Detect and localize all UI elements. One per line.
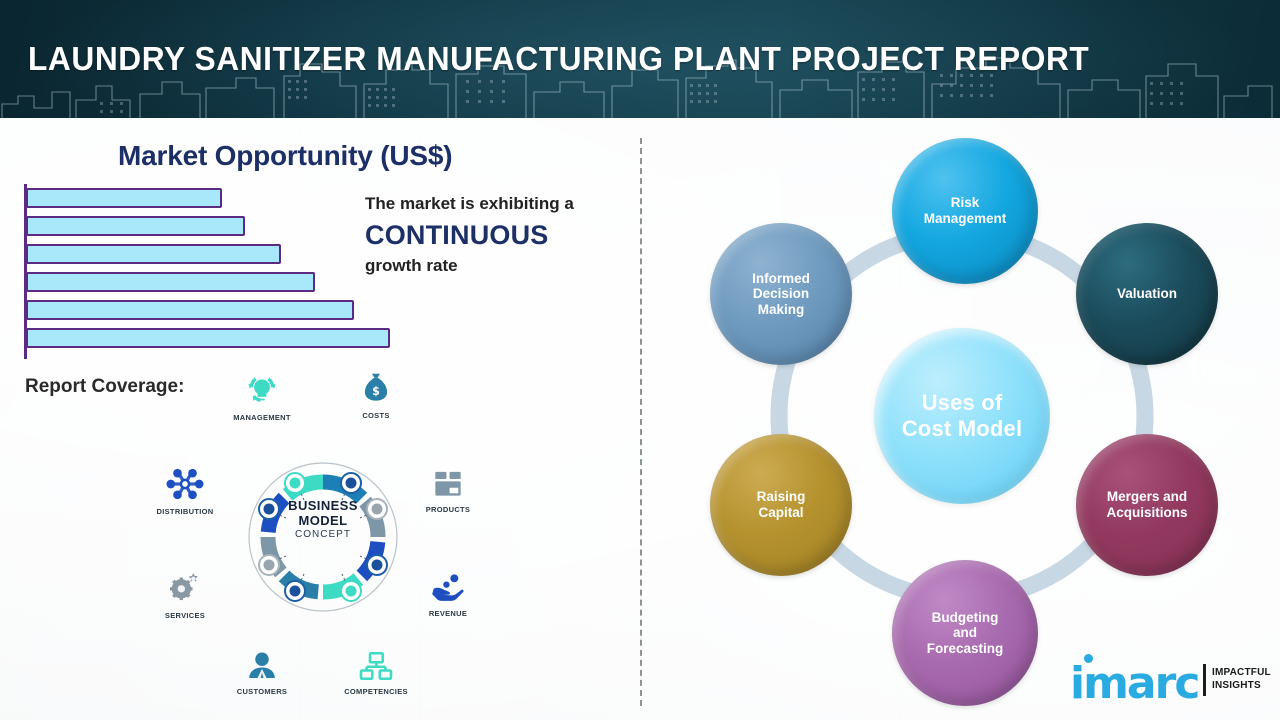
chart-bar-6 (26, 328, 390, 348)
node-budgeting-line1: Budgeting (921, 610, 1010, 626)
market-callout: The market is exhibiting a CONTINUOUS gr… (365, 194, 633, 276)
callout-highlight: CONTINUOUS (365, 214, 633, 256)
coverage-item-services: SERVICES (137, 568, 233, 620)
page-title: LAUNDRY SANITIZER MANUFACTURING PLANT PR… (28, 40, 1089, 78)
node-risk-line2: Management (918, 211, 1013, 227)
imarc-logo[interactable]: imarc IMPACTFUL INSIGHTS (1070, 646, 1270, 708)
logo-wordmark: imarc (1070, 658, 1198, 709)
coverage-item-label: DISTRIBUTION (137, 507, 233, 516)
coverage-item-costs: $ COSTS (328, 368, 424, 420)
node-informed-decision-making[interactable]: Informed Decision Making (710, 223, 852, 365)
node-budgeting-line3: Forecasting (921, 641, 1010, 657)
callout-line-1: The market is exhibiting a (365, 194, 633, 214)
chart-bar-5 (26, 300, 354, 320)
market-opportunity-bar-chart (24, 184, 424, 359)
node-informed-line3: Making (746, 302, 816, 318)
coverage-item-competencies: COMPETENCIES (328, 648, 424, 696)
person-user-icon (243, 648, 281, 684)
chart-bar-3 (26, 244, 281, 264)
coverage-item-label: SERVICES (137, 611, 233, 620)
node-mergers-line2: Acquisitions (1100, 505, 1193, 521)
coverage-item-label: CUSTOMERS (214, 687, 310, 696)
gears-icon (164, 568, 206, 608)
node-informed-line2: Decision (746, 286, 816, 302)
logo-tagline: IMPACTFUL INSIGHTS (1212, 666, 1271, 692)
logo-tagline-line2: INSIGHTS (1212, 679, 1271, 692)
coverage-item-customers: CUSTOMERS (214, 648, 310, 696)
logo-tagline-line1: IMPACTFUL (1212, 666, 1271, 679)
page-header: LAUNDRY SANITIZER MANUFACTURING PLANT PR… (0, 0, 1280, 118)
hand-coins-icon (427, 568, 469, 606)
market-opportunity-title: Market Opportunity (US$) (118, 140, 452, 172)
node-raising-capital[interactable]: Raising Capital (710, 434, 852, 576)
node-raising-line1: Raising (751, 489, 812, 505)
node-center-line1: Uses of (896, 390, 1029, 416)
coverage-item-label: COMPETENCIES (328, 687, 424, 696)
chart-bar-4 (26, 272, 315, 292)
network-nodes-icon (163, 464, 207, 504)
callout-line-3: growth rate (365, 256, 633, 276)
node-informed-line1: Informed (746, 271, 816, 287)
svg-text:$: $ (372, 385, 380, 398)
node-budgeting-forecasting[interactable]: Budgeting and Forecasting (892, 560, 1038, 706)
node-raising-line2: Capital (751, 505, 812, 521)
business-model-donut (232, 446, 414, 628)
node-risk-management[interactable]: Risk Management (892, 138, 1038, 284)
node-uses-of-cost-model[interactable]: Uses of Cost Model (874, 328, 1050, 504)
node-risk-line1: Risk (918, 195, 1013, 211)
chart-bar-2 (26, 216, 245, 236)
lightbulb-recycle-icon (241, 368, 283, 410)
chart-bar-1 (26, 188, 222, 208)
business-model-diagram: MANAGEMENT $ COSTS (140, 368, 500, 708)
coverage-item-revenue: REVENUE (400, 568, 496, 618)
logo-divider (1203, 664, 1206, 696)
coverage-item-label: PRODUCTS (400, 505, 496, 514)
coverage-item-label: MANAGEMENT (214, 413, 310, 422)
node-valuation-line1: Valuation (1111, 286, 1183, 302)
node-valuation[interactable]: Valuation (1076, 223, 1218, 365)
coverage-item-distribution: DISTRIBUTION (137, 464, 233, 516)
node-mergers-acquisitions[interactable]: Mergers and Acquisitions (1076, 434, 1218, 576)
coverage-item-products: PRODUCTS (400, 464, 496, 514)
node-mergers-line1: Mergers and (1100, 489, 1193, 505)
node-budgeting-line2: and (921, 625, 1010, 641)
node-center-line2: Cost Model (896, 416, 1029, 442)
coverage-item-label: REVENUE (400, 609, 496, 618)
right-panel: Uses of Cost Model Risk Management Valua… (640, 118, 1280, 720)
package-box-icon (428, 464, 468, 502)
coverage-item-management: MANAGEMENT (214, 368, 310, 422)
org-chart-icon (356, 648, 396, 684)
coverage-item-label: COSTS (328, 411, 424, 420)
left-panel: Market Opportunity (US$) The market is e… (0, 118, 640, 720)
money-bag-icon: $ (357, 368, 395, 408)
